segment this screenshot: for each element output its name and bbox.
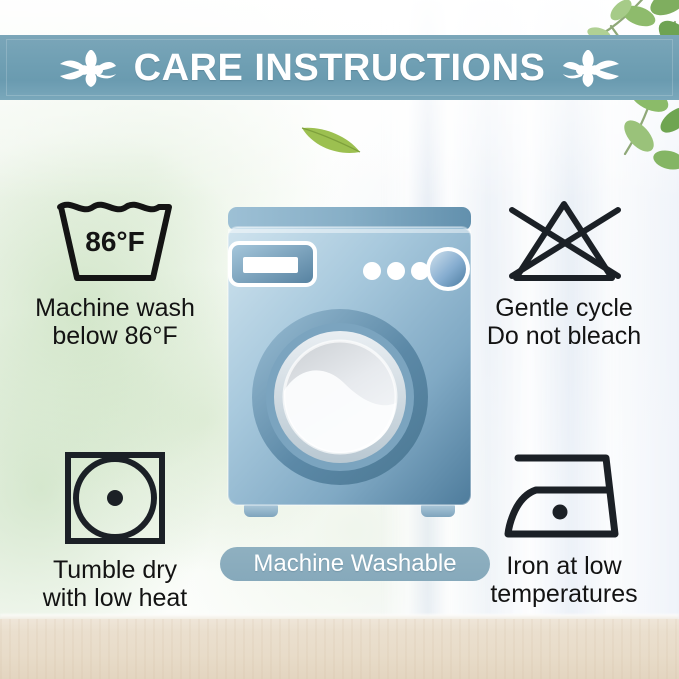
crossed-triangle-bleach-icon bbox=[504, 198, 624, 284]
wash-tub-icon: 86°F bbox=[55, 198, 175, 284]
care-symbol-do-not-bleach: Gentle cycle Do not bleach bbox=[449, 198, 679, 350]
header-banner: CARE INSTRUCTIONS bbox=[0, 35, 679, 100]
fleur-de-lis-icon-left bbox=[60, 46, 116, 90]
care-symbol-tumble-dry: Tumble dry with low heat bbox=[0, 450, 230, 612]
care-symbol-machine-wash: 86°F Machine wash below 86°F bbox=[0, 198, 230, 350]
washer-detergent-drawer bbox=[230, 243, 315, 285]
care-symbol-label-do-not-bleach: Gentle cycle Do not bleach bbox=[487, 294, 641, 350]
care-symbol-iron: Iron at low temperatures bbox=[449, 450, 679, 608]
wooden-table-surface bbox=[0, 619, 679, 679]
care-symbol-label-machine-wash: Machine wash below 86°F bbox=[35, 294, 195, 350]
machine-washable-badge-label: Machine Washable bbox=[253, 552, 456, 576]
machine-washable-badge: Machine Washable bbox=[220, 547, 490, 581]
page-title: CARE INSTRUCTIONS bbox=[134, 49, 546, 87]
washer-top-seam bbox=[228, 229, 471, 233]
fleur-de-lis-icon-right bbox=[563, 46, 619, 90]
care-symbol-label-tumble-dry: Tumble dry with low heat bbox=[43, 556, 188, 612]
wash-temperature-value: 86°F bbox=[85, 226, 144, 257]
iron-low-heat-icon bbox=[502, 450, 626, 542]
care-instructions-infographic: CARE INSTRUCTIONS 86°F Machine wash belo… bbox=[0, 0, 679, 679]
tumble-dry-low-icon bbox=[63, 450, 167, 546]
care-symbol-label-iron: Iron at low temperatures bbox=[490, 552, 637, 608]
washer-indicator-lights bbox=[363, 262, 429, 280]
background-top-haze bbox=[0, 0, 679, 200]
washing-machine-illustration bbox=[222, 205, 477, 535]
washer-program-knob bbox=[426, 247, 470, 291]
washer-door bbox=[252, 309, 428, 485]
